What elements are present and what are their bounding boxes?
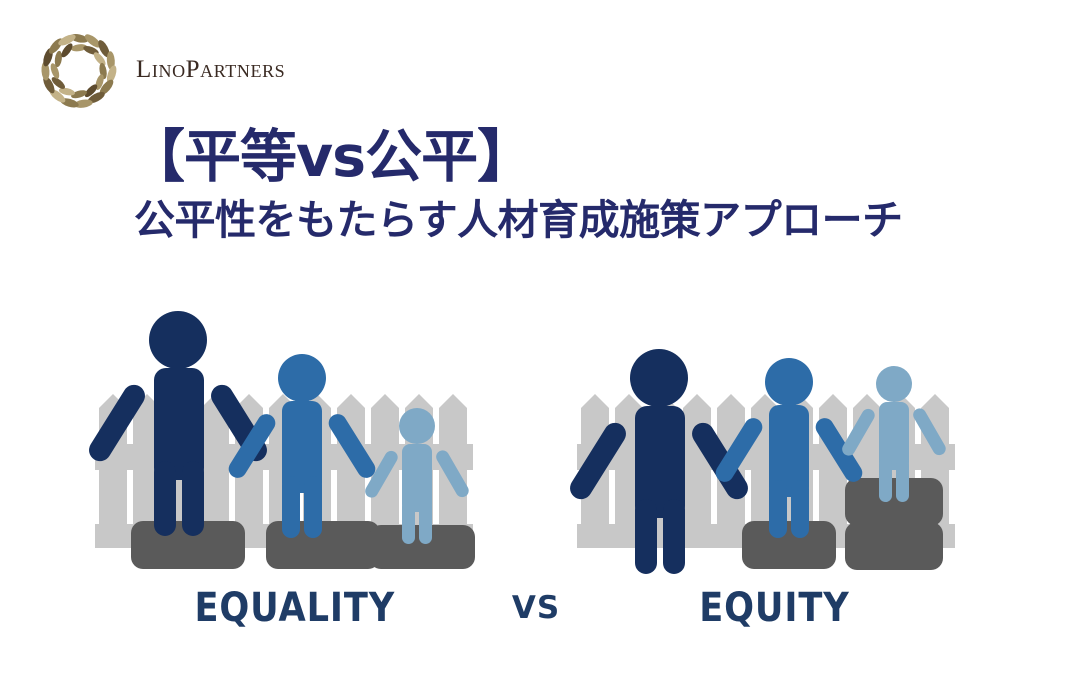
equality-panel: EQUALITY (85, 311, 475, 631)
box-short-right-upper (845, 478, 943, 526)
slide-canvas: LinoPartners 【平等vs公平】 公平性をもたらす人材育成施策アプロー… (0, 0, 1073, 685)
equity-label: EQUITY (699, 584, 849, 631)
page-title: 【平等vs公平】 (128, 128, 1008, 188)
brand-logo: LinoPartners (36, 28, 336, 114)
vs-label: VS (512, 590, 560, 626)
headline-block: 【平等vs公平】 公平性をもたらす人材育成施策アプローチ (128, 128, 1008, 243)
box-medium-right (742, 521, 836, 569)
box-short-right-lower (845, 522, 943, 570)
brand-wordmark: LinoPartners (136, 56, 285, 84)
laurel-wreath-icon (36, 28, 122, 114)
equality-vs-equity-illustration: EQUALITY VS (0, 296, 1073, 646)
page-subtitle: 公平性をもたらす人材育成施策アプローチ (134, 198, 1008, 243)
equality-label: EQUALITY (194, 584, 395, 631)
equity-panel: EQUITY (566, 349, 955, 631)
